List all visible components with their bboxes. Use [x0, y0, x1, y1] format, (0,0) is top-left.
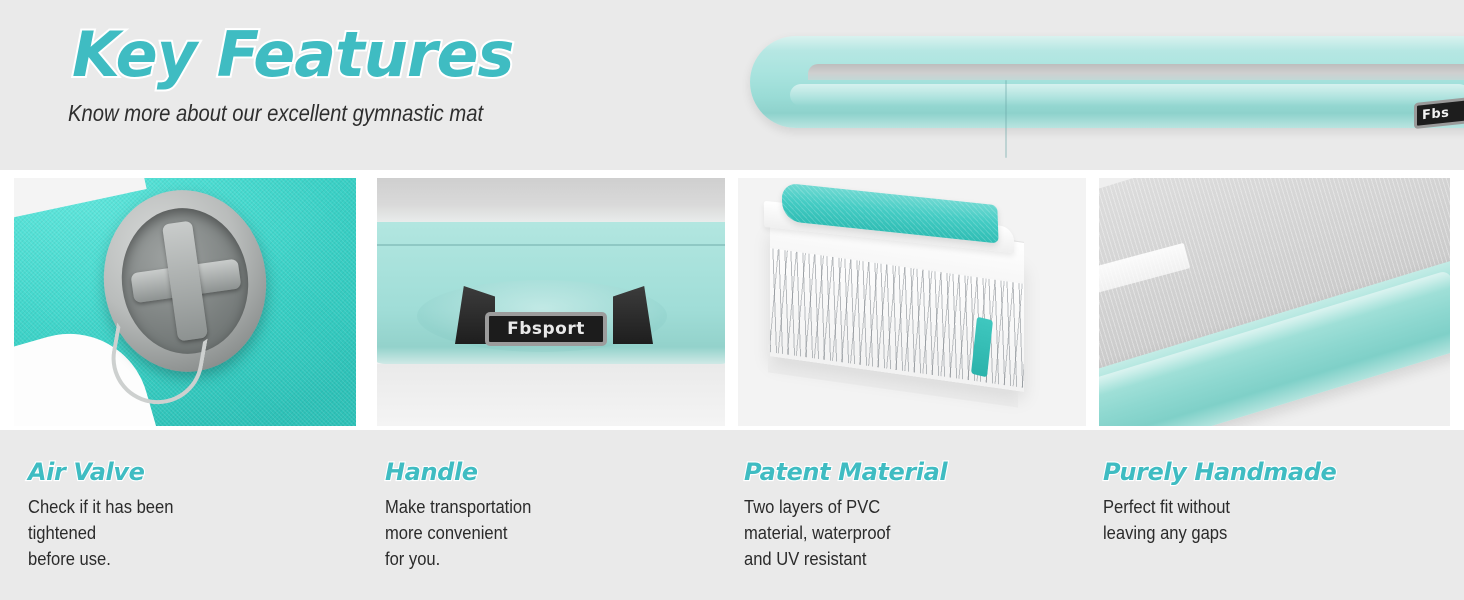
hero-brand-label: Fbs — [1414, 97, 1464, 129]
hero-brand-label-text: Fbs — [1422, 105, 1449, 123]
feature-body: Make transportation more convenient for … — [385, 494, 689, 572]
hero-mat-seam — [1005, 80, 1007, 158]
feature-caption-band: Air Valve Check if it has been tightened… — [0, 430, 1464, 600]
handle-scene-floor — [377, 364, 725, 426]
page-subtitle: Know more about our excellent gymnastic … — [68, 100, 483, 127]
header-text-block: Key Features Know more about our excelle… — [0, 0, 740, 170]
feature-caption-air-valve: Air Valve Check if it has been tightened… — [28, 430, 368, 600]
handle-brand-label-text: Fbsport — [507, 319, 585, 339]
feature-body: Check if it has been tightened before us… — [28, 494, 332, 572]
header-band: Key Features Know more about our excelle… — [0, 0, 1464, 170]
feature-caption-patent-material: Patent Material Two layers of PVC materi… — [744, 430, 1084, 600]
feature-caption-purely-handmade: Purely Handmade Perfect fit without leav… — [1103, 430, 1443, 600]
feature-title: Purely Handmade — [1103, 458, 1336, 486]
photo-panel-handmade-corner — [1099, 178, 1450, 426]
hero-mat-top-surface — [808, 64, 1464, 80]
handle-mat-seam — [377, 244, 725, 246]
photo-panel-air-valve — [14, 178, 356, 426]
feature-title: Patent Material — [744, 458, 947, 486]
feature-photo-row: Fbsport — [0, 178, 1464, 426]
feature-body: Perfect fit without leaving any gaps — [1103, 494, 1407, 546]
photo-panel-patent-material — [738, 178, 1086, 426]
mat-white-seam-tape — [1099, 243, 1190, 307]
hero-product-photo: Fbs — [740, 0, 1464, 170]
hero-mat-body: Fbs — [750, 36, 1464, 128]
hero-mat-highlight — [790, 84, 1464, 106]
feature-title: Handle — [385, 458, 478, 486]
photo-panel-handle: Fbsport — [377, 178, 725, 426]
feature-caption-handle: Handle Make transportation more convenie… — [385, 430, 725, 600]
page-title: Key Features — [72, 18, 513, 91]
handle-mat-top-surface — [377, 178, 725, 222]
feature-title: Air Valve — [28, 458, 144, 486]
handle-brand-label: Fbsport — [485, 312, 607, 346]
feature-body: Two layers of PVC material, waterproof a… — [744, 494, 1048, 572]
